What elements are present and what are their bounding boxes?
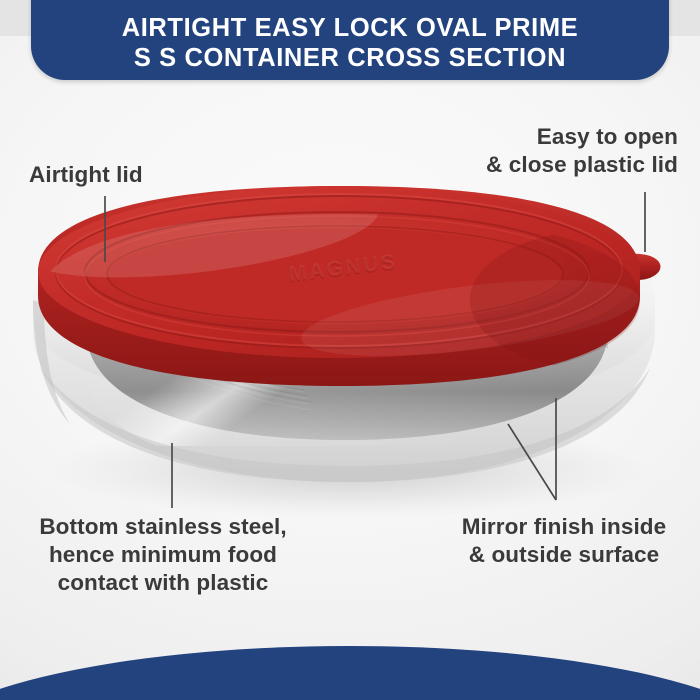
title-line-2: S S CONTAINER CROSS SECTION — [134, 43, 566, 73]
callout-mirror-finish: Mirror finish inside & outside surface — [438, 513, 690, 569]
callout-airtight-lid: Airtight lid — [29, 161, 143, 189]
callout-bottom-steel-line-1: Bottom stainless steel, — [18, 513, 308, 541]
callout-airtight-lid-line-1: Airtight lid — [29, 161, 143, 189]
callout-bottom-steel-line-3: contact with plastic — [18, 569, 308, 597]
callout-easy-open-line-2: & close plastic lid — [486, 151, 678, 179]
callout-bottom-steel: Bottom stainless steel, hence minimum fo… — [18, 513, 308, 597]
callout-easy-open-line-1: Easy to open — [486, 123, 678, 151]
title-line-1: AIRTIGHT EASY LOCK OVAL PRIME — [122, 13, 579, 43]
callout-bottom-steel-line-2: hence minimum food — [18, 541, 308, 569]
title-banner: AIRTIGHT EASY LOCK OVAL PRIME S S CONTAI… — [31, 0, 669, 80]
callout-mirror-finish-line-2: & outside surface — [438, 541, 690, 569]
callout-mirror-finish-line-1: Mirror finish inside — [438, 513, 690, 541]
callout-easy-open: Easy to open & close plastic lid — [486, 123, 678, 179]
infographic-canvas: MAGNUS MAGNUS AIRTIGHT EASY LOCK OVAL PR… — [0, 0, 700, 700]
